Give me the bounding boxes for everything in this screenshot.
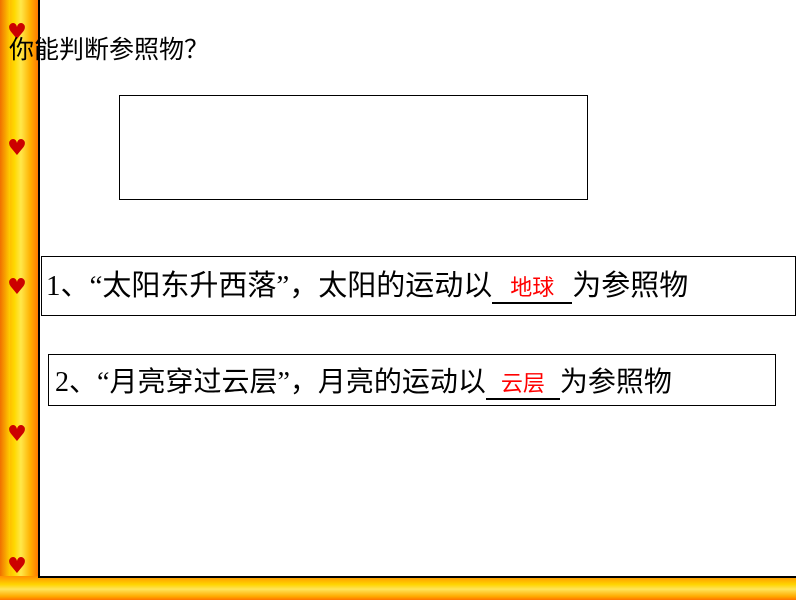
- statement-1-after-text: 为参照物: [572, 270, 688, 302]
- statement-2: 2、“月亮穿过云层”，月亮的运动以云层为参照物: [55, 360, 672, 400]
- heart-icon: ♥: [6, 138, 28, 160]
- statement-1-number: 1、: [46, 270, 90, 302]
- statement-1-blank-answer[interactable]: 地球: [492, 270, 572, 304]
- statement-2-after-text: 为参照物: [560, 367, 672, 398]
- heart-icon: ♥: [6, 424, 28, 446]
- page-title: 你能判断参照物？: [9, 30, 209, 66]
- content-left-rule: [38, 0, 40, 576]
- content-bottom-rule: [38, 576, 796, 578]
- statement-2-blank-answer[interactable]: 云层: [486, 366, 560, 400]
- decorative-left-band: [0, 0, 38, 600]
- decorative-left-band-inner: [0, 0, 10, 600]
- statement-2-number: 2、: [55, 367, 97, 398]
- statement-2-before-text: “月亮穿过云层”，月亮的运动以: [97, 367, 486, 398]
- statement-1: 1、“太阳东升西落”，太阳的运动以地球为参照物: [46, 262, 688, 304]
- heart-icon: ♥: [6, 277, 28, 299]
- slide-canvas: ♥ ♥ ♥ ♥ ♥ 你能判断参照物？ 1、“太阳东升西落”，太阳的运动以地球为参…: [0, 0, 800, 600]
- statement-1-before-text: “太阳东升西落”，太阳的运动以: [90, 270, 493, 302]
- heart-icon: ♥: [6, 556, 28, 578]
- right-edge-margin: [796, 0, 800, 600]
- title-box: [119, 95, 588, 200]
- decorative-bottom-band: [0, 576, 800, 600]
